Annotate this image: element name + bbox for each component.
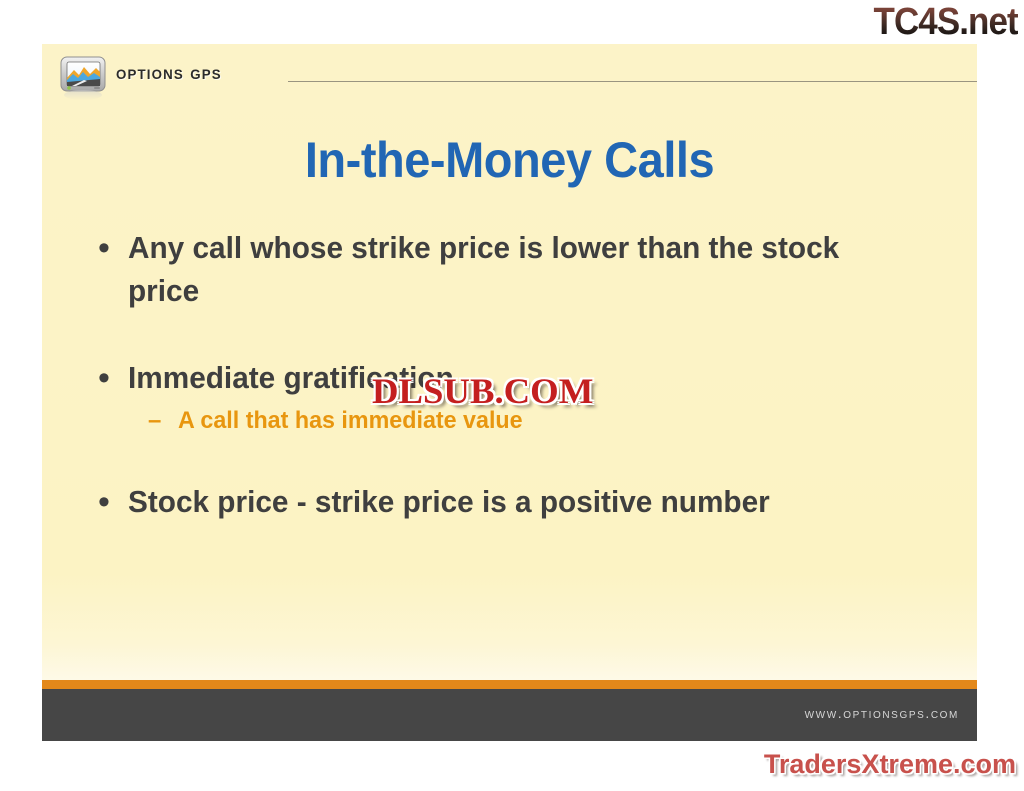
bullet-item-4: • Stock price - strike price is a positi… [92, 480, 952, 524]
bullet-marker: • [92, 226, 128, 270]
bullet-item-1: • Any call whose strike price is lower t… [92, 226, 952, 312]
slide-header: Options GPS [42, 44, 977, 106]
accent-bar [42, 680, 977, 689]
tc4s-logo: TC4S.net [874, 2, 1018, 42]
dlsub-watermark: DLSUB.COM [372, 371, 593, 411]
brand-name-label: Options GPS [116, 62, 222, 85]
header-divider [288, 81, 977, 82]
footer-url-label: www.OptionsGPS.com [805, 705, 959, 721]
bullet-text: Stock price - strike price is a positive… [128, 480, 886, 523]
subbullet-marker: – [148, 404, 178, 438]
tradersxtreme-watermark: TradersXtreme.com [764, 748, 1016, 780]
bullet-text: Any call whose strike price is lower tha… [128, 226, 886, 312]
bullet-marker: • [92, 356, 128, 400]
bullet-marker: • [92, 480, 128, 524]
gps-device-icon [58, 52, 110, 104]
page-title: In-the-Money Calls [70, 132, 949, 188]
slide-footer: www.OptionsGPS.com [42, 689, 977, 741]
